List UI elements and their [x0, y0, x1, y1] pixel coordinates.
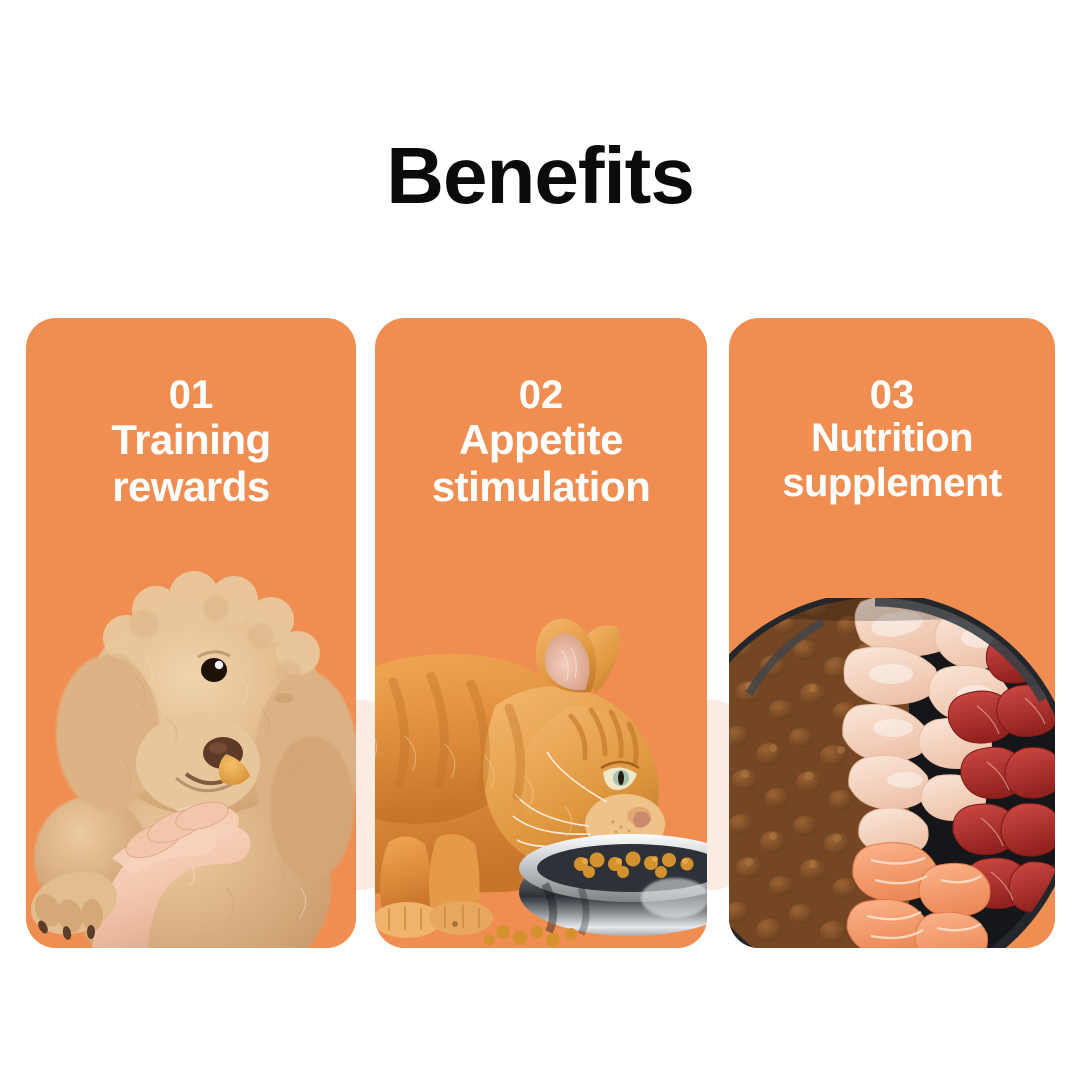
benefit-card-3[interactable]: 03 Nutrition supplement: [729, 318, 1055, 948]
benefits-infographic: Benefits 01 Training rewards: [0, 0, 1080, 1080]
poodle-being-hand-fed-treat-photo: [26, 558, 356, 948]
benefit-card-2-label: Appetite stimulation: [383, 416, 699, 510]
bowl-of-kibble-and-raw-meat-photo: [729, 598, 1055, 948]
page-title: Benefits: [0, 136, 1080, 216]
benefit-card-1[interactable]: 01 Training rewards: [26, 318, 356, 948]
benefit-card-3-label: Nutrition supplement: [737, 416, 1047, 506]
benefit-card-2[interactable]: 02 Appetite stimulation: [375, 318, 707, 948]
benefit-card-1-number: 01: [34, 374, 348, 416]
orange-tabby-cat-eating-from-bowl-photo: [375, 576, 707, 948]
benefit-card-3-text: 03 Nutrition supplement: [729, 374, 1055, 506]
benefit-card-2-number: 02: [383, 374, 699, 416]
benefit-card-1-text: 01 Training rewards: [26, 374, 356, 510]
benefit-card-3-number: 03: [737, 374, 1047, 416]
benefit-card-2-text: 02 Appetite stimulation: [375, 374, 707, 510]
benefit-card-1-label: Training rewards: [34, 416, 348, 510]
